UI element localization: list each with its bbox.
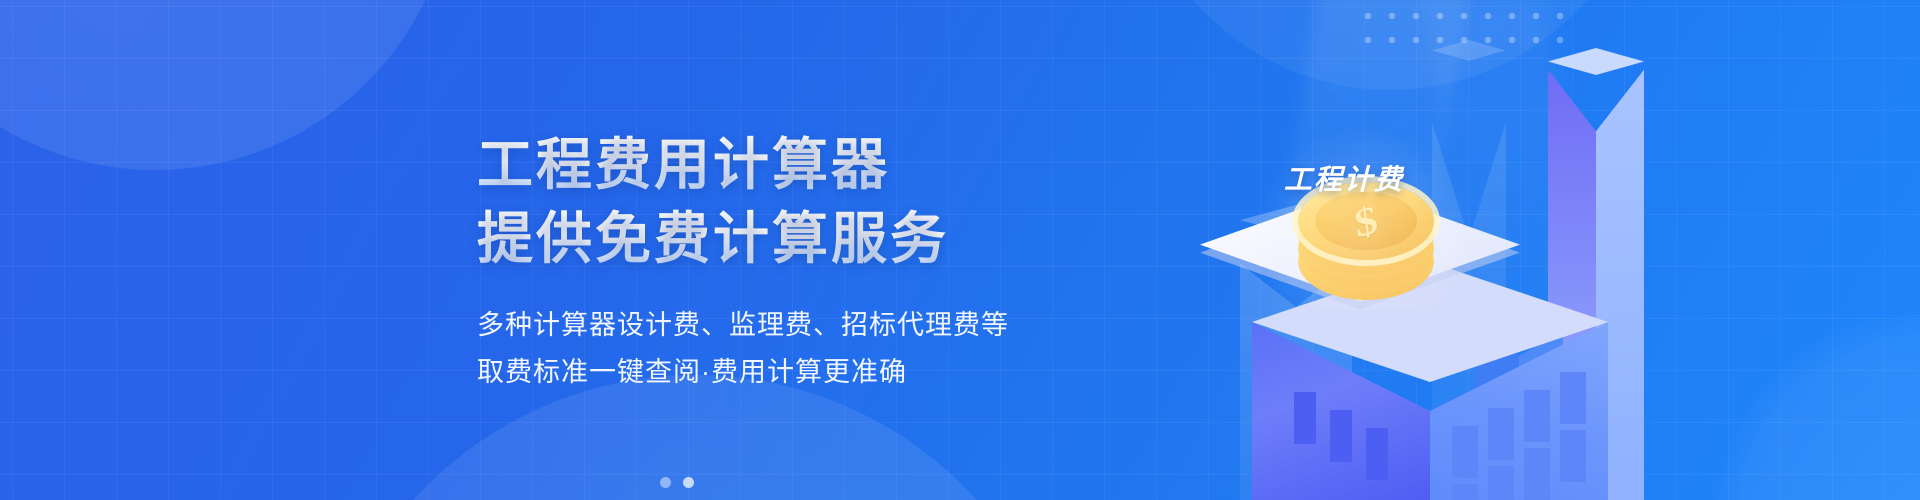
pagination-dot-2[interactable] <box>683 477 694 488</box>
illustration-label: 工程计费 <box>1284 158 1404 198</box>
pagination-dot-1[interactable] <box>660 477 671 488</box>
carousel-pagination[interactable] <box>660 477 694 488</box>
promo-banner: 工程费用计算器 提供免费计算服务 多种计算器设计费、监理费、招标代理费等 取费标… <box>0 0 1920 500</box>
banner-illustration: $ <box>1080 0 1740 500</box>
gold-coin-stack-icon: $ <box>1298 182 1434 302</box>
